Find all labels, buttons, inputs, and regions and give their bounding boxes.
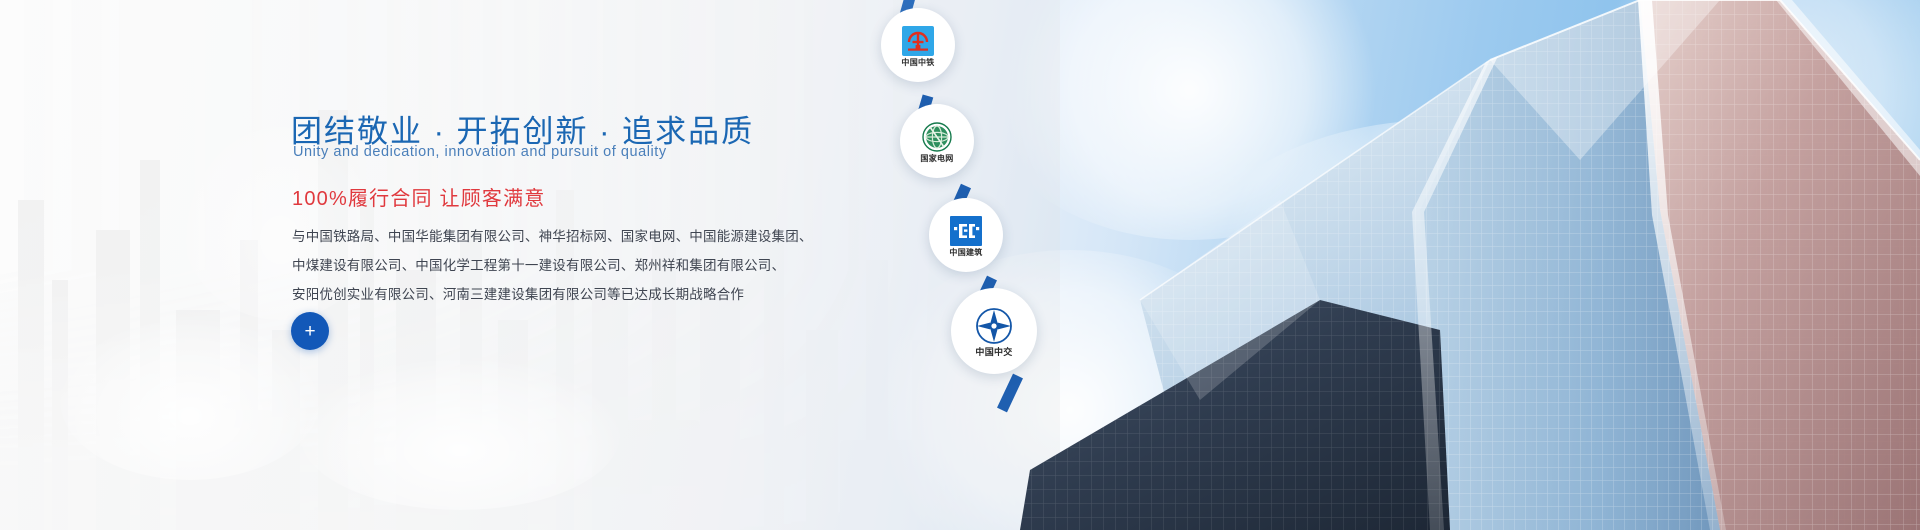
hero-banner: 中国中铁 国家电网 xyxy=(0,0,1920,530)
partners-description-line: 中煤建设有限公司、中国化学工程第十一建设有限公司、郑州祥和集团有限公司、 xyxy=(292,251,762,280)
more-button[interactable]: + xyxy=(291,312,329,350)
promise-tagline: 100%履行合同 让顾客满意 xyxy=(292,182,546,211)
banner-copy-block: 团结敬业 · 开拓创新 · 追求品质 Unity and dedication,… xyxy=(291,0,991,530)
partners-description-line: 与中国铁路局、中国华能集团有限公司、神华招标网、国家电网、中国能源建设集团、 xyxy=(292,222,762,251)
partners-description: 与中国铁路局、中国华能集团有限公司、神华招标网、国家电网、中国能源建设集团、 中… xyxy=(292,222,762,309)
page-subtitle: Unity and dedication, innovation and pur… xyxy=(293,144,667,160)
glass-skyscraper-photo xyxy=(1020,0,1920,530)
partners-description-line: 安阳优创实业有限公司、河南三建建设集团有限公司等已达成长期战略合作 xyxy=(292,280,762,309)
smoke-plume xyxy=(60,320,320,480)
